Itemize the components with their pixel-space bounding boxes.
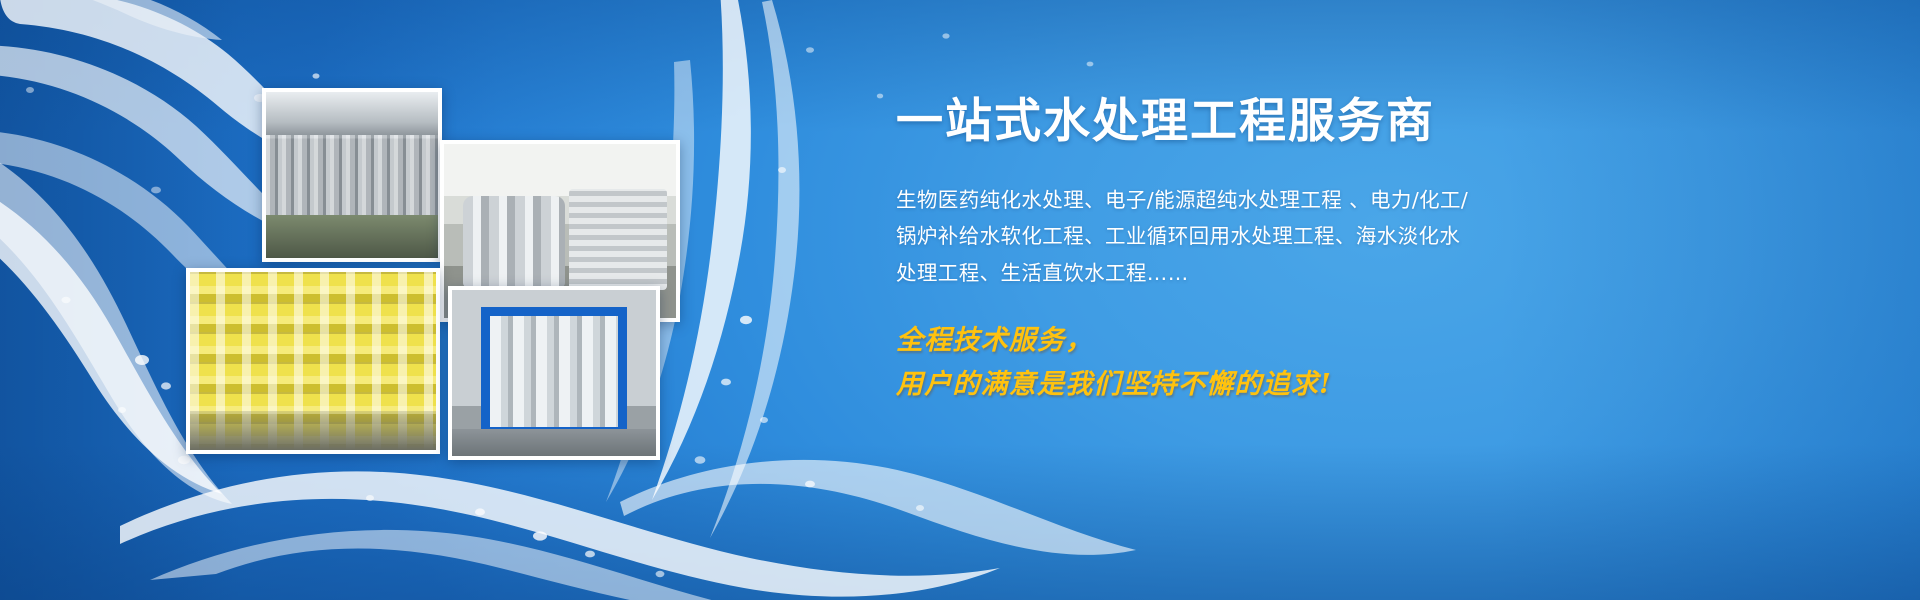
photo-yellow-ro-membrane-vessels	[186, 268, 440, 454]
banner-description: 生物医药纯化水处理、电子/能源超纯水处理工程 、电力/化工/锅炉补给水软化工程、…	[896, 182, 1474, 291]
photo-collage	[186, 78, 726, 462]
banner-slogan: 全程技术服务， 用户的满意是我们坚持不懈的追求!	[896, 319, 1496, 406]
banner-copy: 一站式水处理工程服务商 生物医药纯化水处理、电子/能源超纯水处理工程 、电力/化…	[896, 96, 1496, 407]
banner-headline: 一站式水处理工程服务商	[896, 96, 1496, 148]
photo-3-image	[190, 272, 436, 450]
banner-slogan-line2: 用户的满意是我们坚持不懈的追求!	[896, 363, 1496, 407]
photo-4-image	[452, 290, 656, 456]
hero-banner: 一站式水处理工程服务商 生物医药纯化水处理、电子/能源超纯水处理工程 、电力/化…	[0, 0, 1920, 600]
photo-1-image	[266, 92, 438, 258]
photo-blue-frame-membrane-unit	[448, 286, 660, 460]
banner-slogan-line1: 全程技术服务，	[896, 319, 1496, 363]
photo-ultrafiltration-membrane-rack	[262, 88, 442, 262]
